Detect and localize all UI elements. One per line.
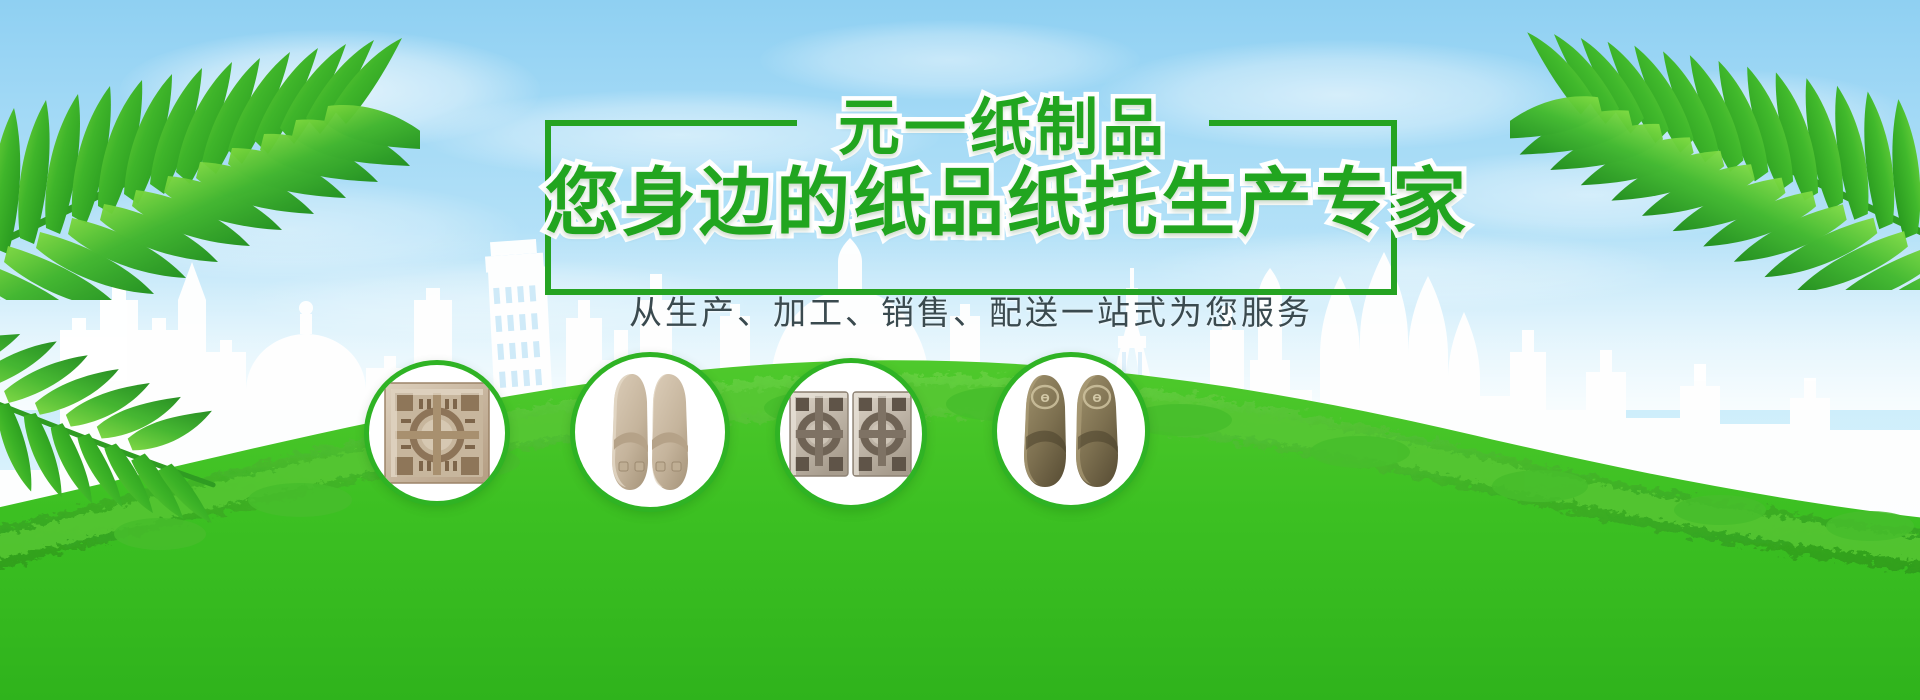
svg-text:Ө: Ө bbox=[1040, 392, 1049, 405]
brand-title: 元一纸制品 bbox=[793, 95, 1213, 161]
product-circle-1[interactable] bbox=[364, 360, 510, 506]
product-circle-4[interactable]: Ө Ө bbox=[992, 352, 1150, 510]
svg-text:Ө: Ө bbox=[1092, 392, 1101, 405]
palm-leaf-icon bbox=[0, 0, 420, 300]
molded-pulp-shoe-tree-image bbox=[594, 368, 706, 496]
palm-leaf-icon bbox=[0, 320, 238, 570]
headline: 您身边的纸品纸托生产专家 bbox=[545, 163, 1397, 243]
product-circle-3[interactable] bbox=[775, 358, 927, 510]
molded-pulp-shoe-insert-image: Ө Ө bbox=[1014, 371, 1128, 491]
tagline: 从生产、加工、销售、配送一站式为您服务 bbox=[545, 293, 1397, 333]
molded-pulp-square-tray-image bbox=[383, 381, 491, 485]
frame-top-left-rule bbox=[545, 120, 797, 126]
headline-block: 元一纸制品 您身边的纸品纸托生产专家 从生产、加工、销售、配送一站式为您服务 bbox=[545, 95, 1405, 295]
product-circle-2[interactable] bbox=[570, 352, 730, 512]
frame-top-right-rule bbox=[1209, 120, 1397, 126]
palm-leaf-icon bbox=[1510, 0, 1920, 290]
promo-banner: 元一纸制品 您身边的纸品纸托生产专家 从生产、加工、销售、配送一站式为您服务 bbox=[0, 0, 1920, 700]
molded-pulp-double-tray-image bbox=[789, 388, 913, 480]
